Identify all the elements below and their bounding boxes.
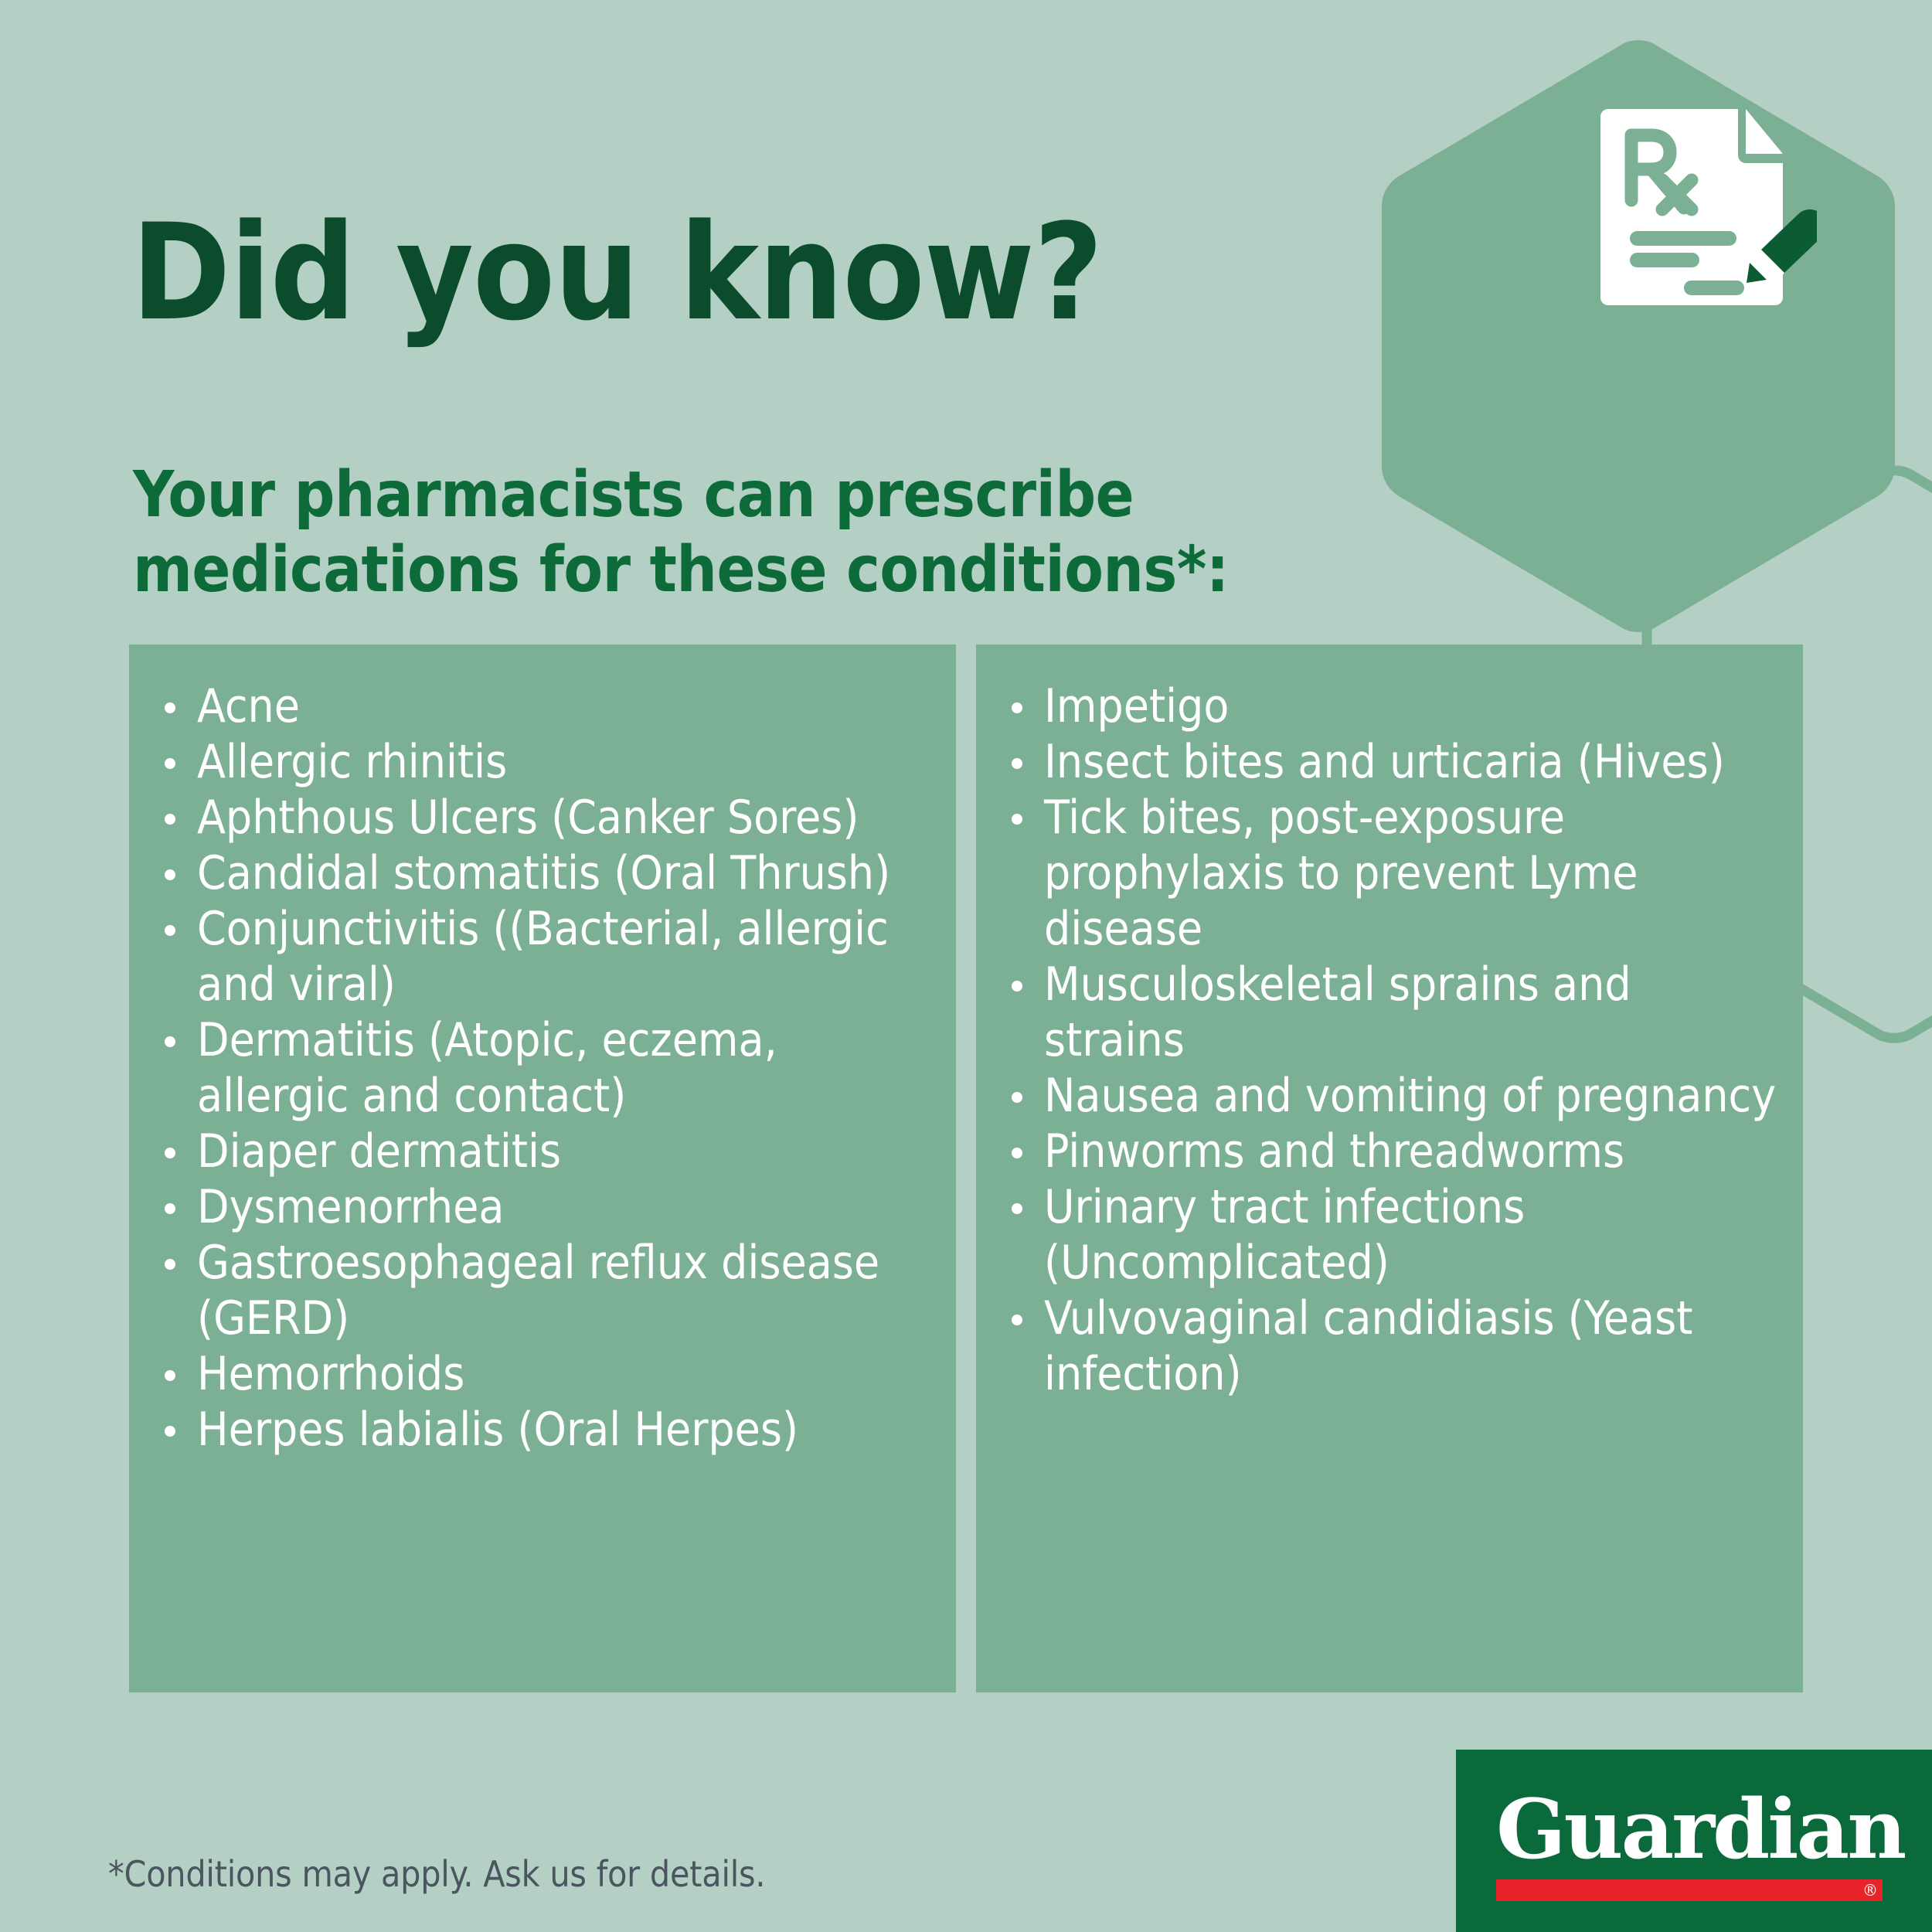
document-signature-line bbox=[1684, 281, 1744, 295]
conditions-card-group: Acne Allergic rhinitis Aphthous Ulcers (… bbox=[129, 645, 1803, 1692]
guardian-logo: Guardian ® bbox=[1456, 1750, 1932, 1932]
list-item: Insect bites and urticaria (Hives) bbox=[1009, 734, 1780, 790]
conditions-card-right: Impetigo Insect bites and urticaria (Hiv… bbox=[976, 645, 1803, 1692]
list-item: Impetigo bbox=[1009, 679, 1780, 734]
page-subtitle: Your pharmacists can prescribe medicatio… bbox=[133, 458, 1229, 608]
conditions-card-left: Acne Allergic rhinitis Aphthous Ulcers (… bbox=[129, 645, 956, 1692]
list-item: Aphthous Ulcers (Canker Sores) bbox=[162, 790, 933, 845]
list-item: Acne bbox=[162, 679, 933, 734]
list-item: Dermatitis (Atopic, eczema, allergic and… bbox=[162, 1012, 933, 1124]
guardian-wordmark: Guardian bbox=[1496, 1788, 1883, 1870]
page-title: Did you know? bbox=[131, 206, 1102, 339]
list-item: Urinary tract infections (Uncomplicated) bbox=[1009, 1179, 1780, 1291]
footnote-disclaimer: *Conditions may apply. Ask us for detail… bbox=[108, 1853, 765, 1896]
page-subtitle-line-2: medications for these conditions*: bbox=[133, 533, 1229, 608]
document-folded-corner bbox=[1746, 109, 1783, 154]
list-item: Gastroesophageal reflux disease (GERD) bbox=[162, 1235, 933, 1346]
list-item: Hemorrhoids bbox=[162, 1346, 933, 1402]
list-item: Allergic rhinitis bbox=[162, 734, 933, 790]
registered-trademark-icon: ® bbox=[1862, 1881, 1878, 1900]
page-subtitle-line-1: Your pharmacists can prescribe bbox=[133, 458, 1229, 533]
list-item: Pinworms and threadworms bbox=[1009, 1124, 1780, 1179]
infographic-poster: Did you know? Your pharmacists can presc… bbox=[0, 0, 1932, 1932]
list-item: Nausea and vomiting of pregnancy bbox=[1009, 1068, 1780, 1124]
conditions-list-left: Acne Allergic rhinitis Aphthous Ulcers (… bbox=[162, 679, 933, 1458]
list-item: Diaper dermatitis bbox=[162, 1124, 933, 1179]
list-item: Herpes labialis (Oral Herpes) bbox=[162, 1402, 933, 1458]
prescription-document-pen-icon bbox=[1594, 109, 1817, 311]
guardian-logo-inner: Guardian ® bbox=[1496, 1788, 1883, 1901]
list-item: Candidal stomatitis (Oral Thrush) bbox=[162, 845, 933, 901]
list-item: Tick bites, post-exposure prophylaxis to… bbox=[1009, 790, 1780, 957]
list-item: Vulvovaginal candidiasis (Yeast infectio… bbox=[1009, 1291, 1780, 1402]
list-item: Conjunctivitis ((Bacterial, allergic and… bbox=[162, 901, 933, 1012]
list-item: Musculoskeletal sprains and strains bbox=[1009, 957, 1780, 1068]
list-item: Dysmenorrhea bbox=[162, 1179, 933, 1235]
document-line-2 bbox=[1630, 253, 1699, 267]
conditions-list-right: Impetigo Insect bites and urticaria (Hiv… bbox=[1009, 679, 1780, 1402]
document-line-1 bbox=[1630, 231, 1736, 246]
guardian-logo-red-bar: ® bbox=[1496, 1879, 1883, 1901]
